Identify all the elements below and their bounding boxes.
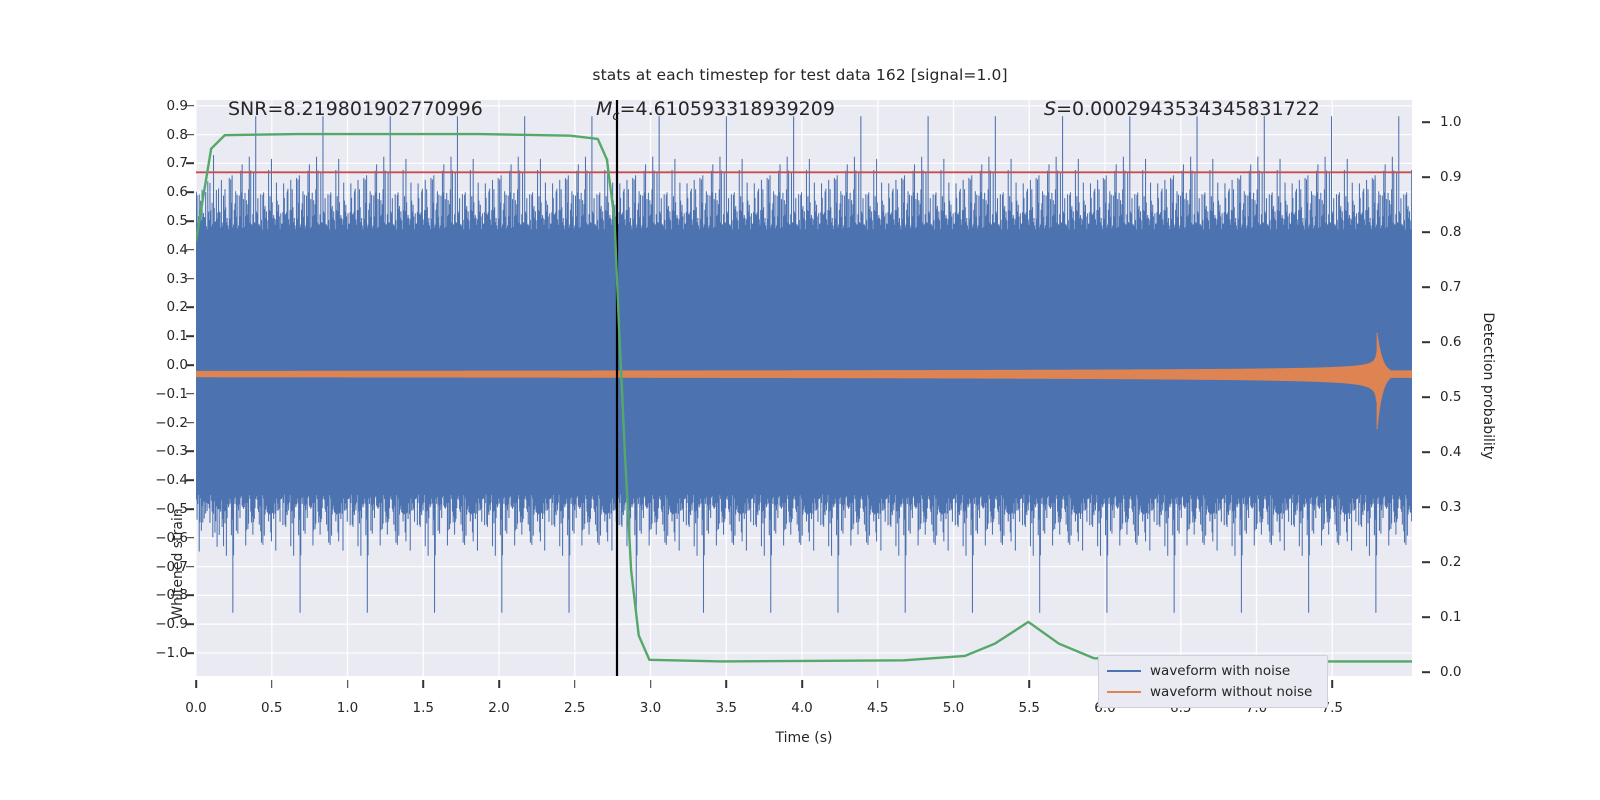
y-axis-left-label-wrap: Whitened strain — [118, 268, 138, 508]
legend: waveform with noise waveform without noi… — [1098, 655, 1328, 708]
x-tick-label: 4.0 — [791, 700, 812, 716]
x-tick-label: 0.0 — [185, 700, 206, 716]
x-axis-label: Time (s) — [196, 730, 1412, 746]
legend-item-waveform-with-noise: waveform with noise — [1107, 660, 1319, 681]
annotation-snr: SNR=8.219801902770996 — [228, 100, 483, 120]
y-tick-label-right: 0.8 — [1440, 224, 1500, 240]
legend-label: waveform without noise — [1150, 684, 1312, 700]
y-tick-label-right: 0.0 — [1440, 664, 1500, 680]
x-tick-label: 1.5 — [413, 700, 434, 716]
y-tick-label-right: 0.9 — [1440, 169, 1500, 185]
x-tick-label: 2.5 — [564, 700, 585, 716]
page-title: stats at each timestep for test data 162… — [0, 66, 1600, 84]
y-axis-right-label: Detection probability — [1480, 266, 1496, 506]
y-tick-label-right: 0.1 — [1440, 609, 1500, 625]
y-tick-label: 0.7 — [128, 155, 188, 171]
y-tick-label-right: 0.2 — [1440, 554, 1500, 570]
y-tick-label: 0.8 — [128, 127, 188, 143]
annotation-score: S=0.0002943534345831722 — [1044, 100, 1320, 120]
x-tick-label: 3.0 — [640, 700, 661, 716]
legend-line-icon — [1107, 670, 1141, 672]
legend-item-waveform-without-noise: waveform without noise — [1107, 681, 1319, 702]
y-tick-label: 0.5 — [128, 213, 188, 229]
plot-canvas — [196, 100, 1412, 676]
y-tick-label: 0.6 — [128, 184, 188, 200]
y-axis-left-label: Whitened strain — [170, 444, 186, 684]
legend-label: waveform with noise — [1150, 663, 1290, 679]
annotation-chirp-mass: Mc=4.610593318939209 — [596, 100, 835, 124]
x-tick-label: 5.0 — [943, 700, 964, 716]
figure: stats at each timestep for test data 162… — [0, 0, 1600, 800]
y-tick-label: 0.9 — [128, 98, 188, 114]
x-tick-label: 5.5 — [1019, 700, 1040, 716]
x-tick-label: 2.0 — [488, 700, 509, 716]
x-tick-label: 0.5 — [261, 700, 282, 716]
y-axis-right-label-wrap: Detection probability — [1478, 268, 1498, 508]
x-tick-label: 4.5 — [867, 700, 888, 716]
legend-line-icon — [1107, 691, 1141, 693]
x-tick-label: 3.5 — [716, 700, 737, 716]
plot-area: SNR=8.219801902770996 Mc=4.6105933189392… — [196, 100, 1412, 676]
y-tick-label-right: 1.0 — [1440, 114, 1500, 130]
x-tick-label: 1.0 — [337, 700, 358, 716]
y-tick-label: 0.4 — [128, 242, 188, 258]
